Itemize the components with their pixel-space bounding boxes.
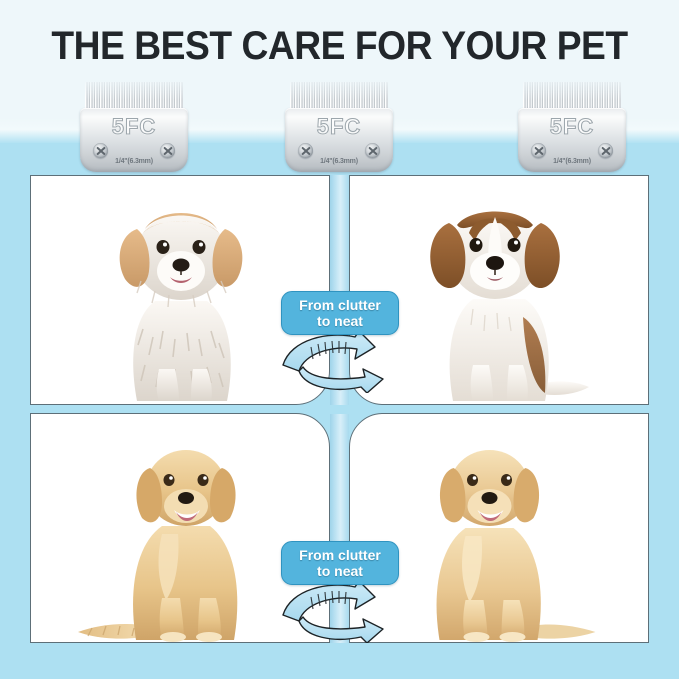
blade-model-label: 5FC <box>80 114 188 140</box>
dog-photo-shaggy-terrier <box>85 189 275 404</box>
page-title: THE BEST CARE FOR YOUR PET <box>24 24 655 68</box>
screw-icon <box>598 143 613 158</box>
transform-badge-2: From clutter to neat <box>265 535 415 645</box>
clipper-blade-2: 5FC 1/4"(6.3mm) <box>281 82 397 174</box>
curved-arrow-icon <box>271 331 411 393</box>
dog-photo-golden-retriever <box>70 430 290 642</box>
badge-pill-2: From clutter to neat <box>281 541 399 585</box>
blade-model-label: 5FC <box>285 114 393 140</box>
dog-photo-groomed-havanese <box>399 189 599 404</box>
badge-line-1: From clutter <box>299 547 381 563</box>
blade-body: 5FC 1/4"(6.3mm) <box>285 108 393 172</box>
badge-line-2: to neat <box>317 563 363 579</box>
badge-line-1: From clutter <box>299 297 381 313</box>
product-banner: THE BEST CARE FOR YOUR PET 5FC 1/4"(6.3m… <box>0 0 679 679</box>
dog-photo-groomed-golden-retriever <box>392 430 607 642</box>
transform-badge-1: From clutter to neat <box>265 285 415 395</box>
blade-body: 5FC 1/4"(6.3mm) <box>80 108 188 172</box>
badge-line-2: to neat <box>317 313 363 329</box>
screw-icon <box>298 143 313 158</box>
screw-icon <box>160 143 175 158</box>
blade-body: 5FC 1/4"(6.3mm) <box>518 108 626 172</box>
blade-size-label: 1/4"(6.3mm) <box>518 158 626 165</box>
clipper-blade-3: 5FC 1/4"(6.3mm) <box>514 82 630 174</box>
blade-model-label: 5FC <box>518 114 626 140</box>
blade-size-label: 1/4"(6.3mm) <box>285 158 393 165</box>
screw-icon <box>531 143 546 158</box>
curved-arrow-icon <box>271 581 411 643</box>
clipper-blade-1: 5FC 1/4"(6.3mm) <box>76 82 192 174</box>
badge-pill-1: From clutter to neat <box>281 291 399 335</box>
blade-size-label: 1/4"(6.3mm) <box>80 158 188 165</box>
screw-icon <box>93 143 108 158</box>
screw-icon <box>365 143 380 158</box>
